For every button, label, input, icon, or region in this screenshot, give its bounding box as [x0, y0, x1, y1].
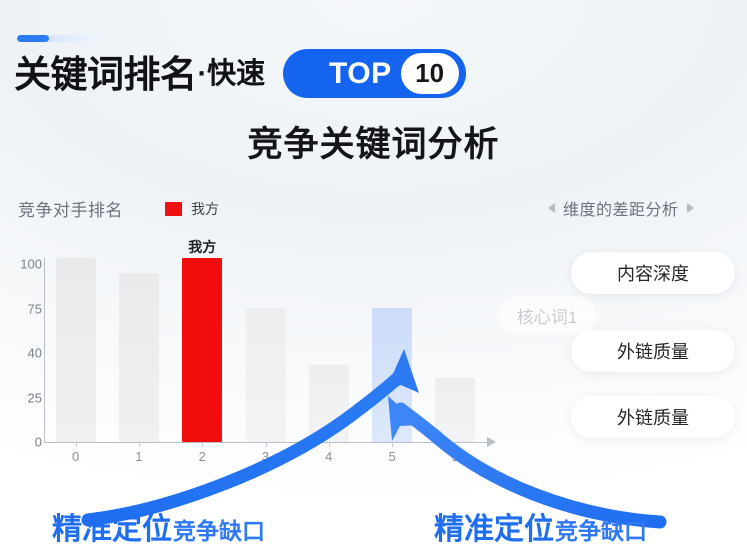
bar-chart: 1007540250 我方 0123455	[0, 250, 540, 485]
x-axis-tick-label: 2	[199, 449, 206, 464]
x-axis-tick-label: 4	[325, 449, 332, 464]
dimension-card[interactable]: 外链质量	[571, 396, 735, 438]
bar	[246, 308, 286, 442]
y-axis-tick-label: 75	[0, 301, 42, 316]
caption-left-strong: 精准定位	[52, 504, 172, 548]
x-axis-tick-label: 1	[135, 449, 142, 464]
y-axis-tick-label: 40	[0, 346, 42, 361]
chart-header: 竞争对手排名 我方	[18, 196, 219, 221]
poster-canvas: 关键词排名 ·快速 TOP 10 竞争关键词分析 竞争对手排名 我方 10075…	[0, 0, 747, 560]
dimension-card-label: 外链质量	[617, 404, 689, 430]
progress-bar-fill	[17, 35, 49, 42]
bar	[435, 378, 475, 442]
page-title-sub: ·快速	[198, 60, 266, 89]
x-axis-tick-label: 5	[452, 449, 459, 464]
right-panel-title: 维度的差距分析	[563, 196, 679, 220]
x-axis-tick-mark	[329, 442, 330, 447]
legend-swatch-icon	[165, 202, 182, 216]
dimension-card[interactable]: 内容深度	[571, 252, 735, 294]
page-subtitle: 竞争关键词分析	[0, 116, 747, 167]
chart-title: 竞争对手排名	[18, 196, 123, 221]
y-axis-line	[44, 258, 45, 443]
caption-left: 精准定位 竞争缺口	[52, 504, 265, 548]
bar	[119, 273, 159, 442]
bar-highlighted	[182, 258, 222, 442]
chart-legend: 我方	[165, 199, 219, 219]
x-axis-tick-mark	[455, 442, 456, 447]
y-axis-tick-label: 25	[0, 390, 42, 405]
y-axis-tick-label: 0	[0, 435, 42, 450]
progress-bar	[17, 35, 113, 42]
bar	[309, 365, 349, 442]
page-title: 关键词排名 ·快速	[14, 46, 265, 102]
x-axis-arrow-icon	[487, 437, 496, 447]
x-axis-tick-label: 0	[72, 449, 79, 464]
dimension-card-label: 内容深度	[617, 260, 689, 286]
triangle-right-icon	[687, 203, 694, 213]
page-title-dot: ·	[198, 58, 208, 90]
top-rank-badge: TOP 10	[283, 49, 466, 98]
ghost-keyword-chip: 核心词1	[497, 296, 597, 334]
triangle-left-icon	[548, 203, 555, 213]
x-axis-tick-mark	[266, 442, 267, 447]
bar-top-label: 我方	[188, 237, 216, 257]
x-axis-tick-mark	[392, 442, 393, 447]
x-axis-line	[44, 442, 490, 443]
top-rank-badge-label: TOP	[301, 59, 392, 89]
page-title-main: 关键词排名	[14, 56, 197, 93]
caption-left-weak: 竞争缺口	[173, 512, 265, 546]
bar	[372, 308, 412, 442]
caption-right-weak: 竞争缺口	[555, 512, 647, 546]
dimension-card[interactable]: 外链质量	[571, 330, 735, 372]
x-axis-tick-mark	[139, 442, 140, 447]
legend-label: 我方	[191, 199, 219, 219]
top-rank-badge-number: 10	[401, 53, 459, 94]
x-axis-tick-label: 3	[262, 449, 269, 464]
right-panel-header: 维度的差距分析	[548, 196, 694, 220]
x-axis-tick-mark	[76, 442, 77, 447]
x-axis-tick-label: 5	[388, 449, 395, 464]
caption-right-strong: 精准定位	[434, 504, 554, 548]
bar	[56, 258, 96, 442]
x-axis-tick-mark	[202, 442, 203, 447]
page-title-sub-text: 快速	[207, 58, 265, 90]
caption-right: 精准定位 竞争缺口	[434, 504, 647, 548]
y-axis-tick-label: 100	[0, 257, 42, 272]
dimension-card-label: 外链质量	[617, 338, 689, 364]
